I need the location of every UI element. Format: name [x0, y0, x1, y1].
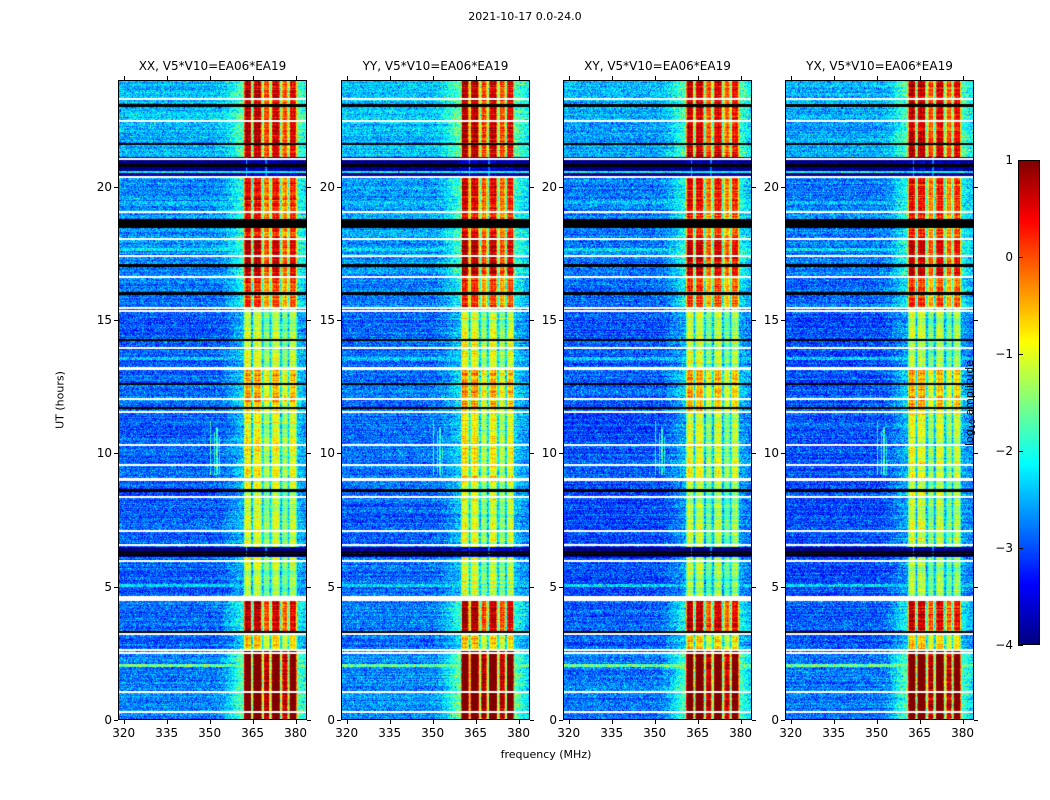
y-tick-mark-right	[974, 720, 978, 721]
colorbar-tick-mark	[1018, 645, 1023, 646]
y-tick-label: 5	[327, 580, 335, 594]
x-tick-mark-top	[210, 76, 211, 80]
y-tick-label: 0	[327, 713, 335, 727]
y-tick-mark	[337, 320, 341, 321]
colorbar-label: log10 amplitude	[963, 360, 977, 446]
y-tick-mark-right	[752, 187, 756, 188]
x-tick-mark-top	[612, 76, 613, 80]
y-tick-mark-right	[752, 320, 756, 321]
x-tick-label: 335	[155, 726, 178, 740]
x-tick-label: 365	[241, 726, 264, 740]
y-tick-label: 15	[97, 313, 112, 327]
y-tick-label: 15	[320, 313, 335, 327]
y-tick-mark	[337, 453, 341, 454]
y-tick-mark	[559, 320, 563, 321]
y-tick-mark	[114, 320, 118, 321]
y-tick-mark-right	[307, 453, 311, 454]
x-tick-label: 365	[464, 726, 487, 740]
y-tick-mark-right	[530, 453, 534, 454]
x-tick-mark-top	[791, 76, 792, 80]
y-tick-label: 0	[549, 713, 557, 727]
panel-yy[interactable]: YY, V5*V10=EA06*EA1932033535036538005101…	[341, 80, 530, 720]
y-tick-mark	[559, 587, 563, 588]
y-tick-label: 20	[764, 180, 779, 194]
y-tick-mark	[781, 720, 785, 721]
x-tick-mark-top	[963, 76, 964, 80]
colorbar-tick-label: −2	[995, 444, 1013, 458]
x-tick-mark-top	[834, 76, 835, 80]
x-tick-label: 350	[865, 726, 888, 740]
x-tick-mark	[296, 720, 297, 724]
colorbar-tick-label: −1	[995, 347, 1013, 361]
x-tick-label: 350	[198, 726, 221, 740]
x-tick-label: 365	[686, 726, 709, 740]
y-tick-mark-right	[530, 720, 534, 721]
x-tick-mark	[612, 720, 613, 724]
panel-title-xy: XY, V5*V10=EA06*EA19	[563, 59, 752, 73]
y-tick-mark-right	[752, 453, 756, 454]
x-tick-mark-top	[253, 76, 254, 80]
x-tick-mark-top	[347, 76, 348, 80]
y-tick-mark	[114, 453, 118, 454]
x-tick-mark	[655, 720, 656, 724]
dynamic-spectrum-xy	[563, 80, 752, 720]
y-tick-mark	[781, 587, 785, 588]
y-tick-label: 10	[97, 446, 112, 460]
y-tick-mark	[559, 187, 563, 188]
x-tick-label: 335	[600, 726, 623, 740]
colorbar-tick-mark	[1018, 160, 1023, 161]
x-tick-mark-top	[167, 76, 168, 80]
y-tick-label: 0	[771, 713, 779, 727]
y-tick-label: 10	[542, 446, 557, 460]
colorbar-tick-label: −3	[995, 541, 1013, 555]
colorbar-tick-mark	[1018, 548, 1023, 549]
y-tick-mark	[781, 320, 785, 321]
y-tick-mark-right	[974, 587, 978, 588]
x-tick-mark	[698, 720, 699, 724]
colorbar-label-subscript: 10	[968, 419, 977, 429]
figure-canvas: 2021-10-17 0.0-24.0 XX, V5*V10=EA06*EA19…	[0, 0, 1050, 800]
y-tick-mark	[781, 453, 785, 454]
x-tick-label: 335	[822, 726, 845, 740]
colorbar-tick-label: 1	[1005, 153, 1013, 167]
x-tick-mark-top	[476, 76, 477, 80]
y-tick-mark-right	[307, 720, 311, 721]
x-tick-mark	[963, 720, 964, 724]
x-tick-label: 320	[779, 726, 802, 740]
y-tick-label: 10	[320, 446, 335, 460]
colorbar-tick-mark	[1018, 257, 1023, 258]
panel-xx[interactable]: XX, V5*V10=EA06*EA1932033535036538005101…	[118, 80, 307, 720]
x-tick-label: 320	[335, 726, 358, 740]
x-tick-label: 350	[643, 726, 666, 740]
colorbar-tick-label: 0	[1005, 250, 1013, 264]
y-tick-mark	[559, 453, 563, 454]
colorbar[interactable]: −4−3−2−101	[1018, 160, 1040, 645]
x-tick-mark	[519, 720, 520, 724]
y-tick-mark	[114, 587, 118, 588]
dynamic-spectrum-yx	[785, 80, 974, 720]
x-tick-mark-top	[741, 76, 742, 80]
x-tick-mark	[569, 720, 570, 724]
x-tick-mark	[877, 720, 878, 724]
x-tick-mark	[167, 720, 168, 724]
x-tick-mark	[210, 720, 211, 724]
x-tick-label: 380	[284, 726, 307, 740]
y-tick-mark-right	[974, 453, 978, 454]
x-tick-label: 380	[729, 726, 752, 740]
x-tick-mark-top	[519, 76, 520, 80]
y-tick-mark-right	[530, 187, 534, 188]
colorbar-label-suffix: amplitude	[963, 360, 976, 419]
y-tick-label: 15	[542, 313, 557, 327]
y-tick-label: 5	[771, 580, 779, 594]
y-tick-mark-right	[530, 587, 534, 588]
x-tick-mark-top	[698, 76, 699, 80]
x-tick-mark-top	[433, 76, 434, 80]
colorbar-label-prefix: log	[963, 429, 976, 446]
y-tick-label: 20	[320, 180, 335, 194]
y-tick-mark	[337, 187, 341, 188]
x-tick-mark-top	[296, 76, 297, 80]
x-tick-mark-top	[655, 76, 656, 80]
y-tick-label: 20	[97, 180, 112, 194]
y-tick-mark	[559, 720, 563, 721]
x-tick-label: 365	[908, 726, 931, 740]
y-tick-label: 15	[764, 313, 779, 327]
x-tick-mark	[124, 720, 125, 724]
x-tick-mark	[433, 720, 434, 724]
x-tick-mark	[791, 720, 792, 724]
y-tick-mark-right	[752, 587, 756, 588]
y-tick-mark-right	[307, 187, 311, 188]
panel-title-yx: YX, V5*V10=EA06*EA19	[785, 59, 974, 73]
colorbar-tick-label: −4	[995, 638, 1013, 652]
y-axis-label: UT (hours)	[54, 371, 67, 429]
x-tick-label: 380	[507, 726, 530, 740]
y-tick-mark	[114, 720, 118, 721]
x-tick-mark-top	[877, 76, 878, 80]
x-tick-label: 320	[557, 726, 580, 740]
y-tick-mark-right	[307, 320, 311, 321]
panel-title-xx: XX, V5*V10=EA06*EA19	[118, 59, 307, 73]
y-tick-label: 10	[764, 446, 779, 460]
dynamic-spectrum-yy	[341, 80, 530, 720]
panel-yx[interactable]: YX, V5*V10=EA06*EA1932033535036538005101…	[785, 80, 974, 720]
y-tick-mark-right	[974, 187, 978, 188]
y-tick-mark	[114, 187, 118, 188]
x-tick-mark	[920, 720, 921, 724]
y-tick-label: 0	[104, 713, 112, 727]
x-tick-mark	[253, 720, 254, 724]
colorbar-tick-mark	[1018, 354, 1023, 355]
y-tick-mark-right	[752, 720, 756, 721]
y-tick-mark-right	[530, 320, 534, 321]
colorbar-tick-mark	[1018, 451, 1023, 452]
x-axis-label: frequency (MHz)	[396, 748, 696, 761]
x-tick-label: 320	[112, 726, 135, 740]
x-tick-label: 335	[378, 726, 401, 740]
x-tick-mark	[347, 720, 348, 724]
x-tick-mark	[741, 720, 742, 724]
y-tick-mark-right	[307, 587, 311, 588]
x-tick-mark-top	[569, 76, 570, 80]
x-tick-mark-top	[390, 76, 391, 80]
x-tick-mark-top	[124, 76, 125, 80]
x-tick-label: 350	[421, 726, 444, 740]
dynamic-spectrum-xx	[118, 80, 307, 720]
x-tick-mark	[390, 720, 391, 724]
y-tick-label: 5	[549, 580, 557, 594]
y-tick-label: 5	[104, 580, 112, 594]
colorbar-gradient	[1018, 160, 1040, 645]
panel-xy[interactable]: XY, V5*V10=EA06*EA1932033535036538005101…	[563, 80, 752, 720]
y-tick-mark	[781, 187, 785, 188]
y-tick-mark	[337, 587, 341, 588]
panel-title-yy: YY, V5*V10=EA06*EA19	[341, 59, 530, 73]
x-tick-label: 380	[951, 726, 974, 740]
x-tick-mark	[476, 720, 477, 724]
y-tick-mark-right	[974, 320, 978, 321]
figure-suptitle: 2021-10-17 0.0-24.0	[0, 10, 1050, 23]
x-tick-mark-top	[920, 76, 921, 80]
y-tick-mark	[337, 720, 341, 721]
x-tick-mark	[834, 720, 835, 724]
y-tick-label: 20	[542, 180, 557, 194]
